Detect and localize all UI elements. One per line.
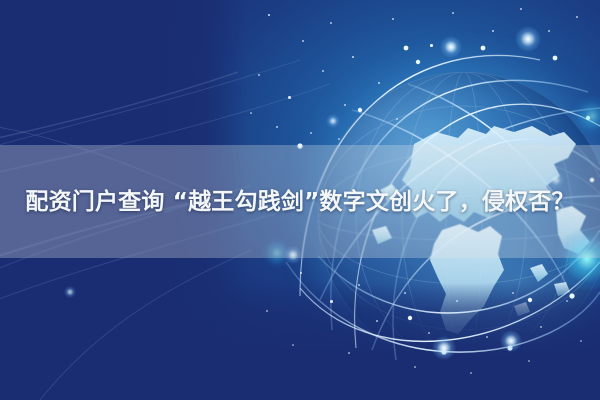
- star-glow: [440, 36, 462, 58]
- star-glow: [326, 114, 340, 128]
- star-glow: [515, 26, 541, 52]
- star-glow: [64, 286, 76, 298]
- cyan-flare: [572, 96, 600, 136]
- headline-text: 配资门户查询 “越王勾践剑”数字文创火了，侵权否？: [25, 183, 574, 221]
- cover-banner: 配资门户查询 “越王勾践剑”数字文创火了，侵权否？: [0, 0, 600, 400]
- headline: 配资门户查询 “越王勾践剑”数字文创火了，侵权否？: [0, 145, 600, 258]
- star-glow: [500, 330, 522, 352]
- star-glow: [432, 336, 456, 360]
